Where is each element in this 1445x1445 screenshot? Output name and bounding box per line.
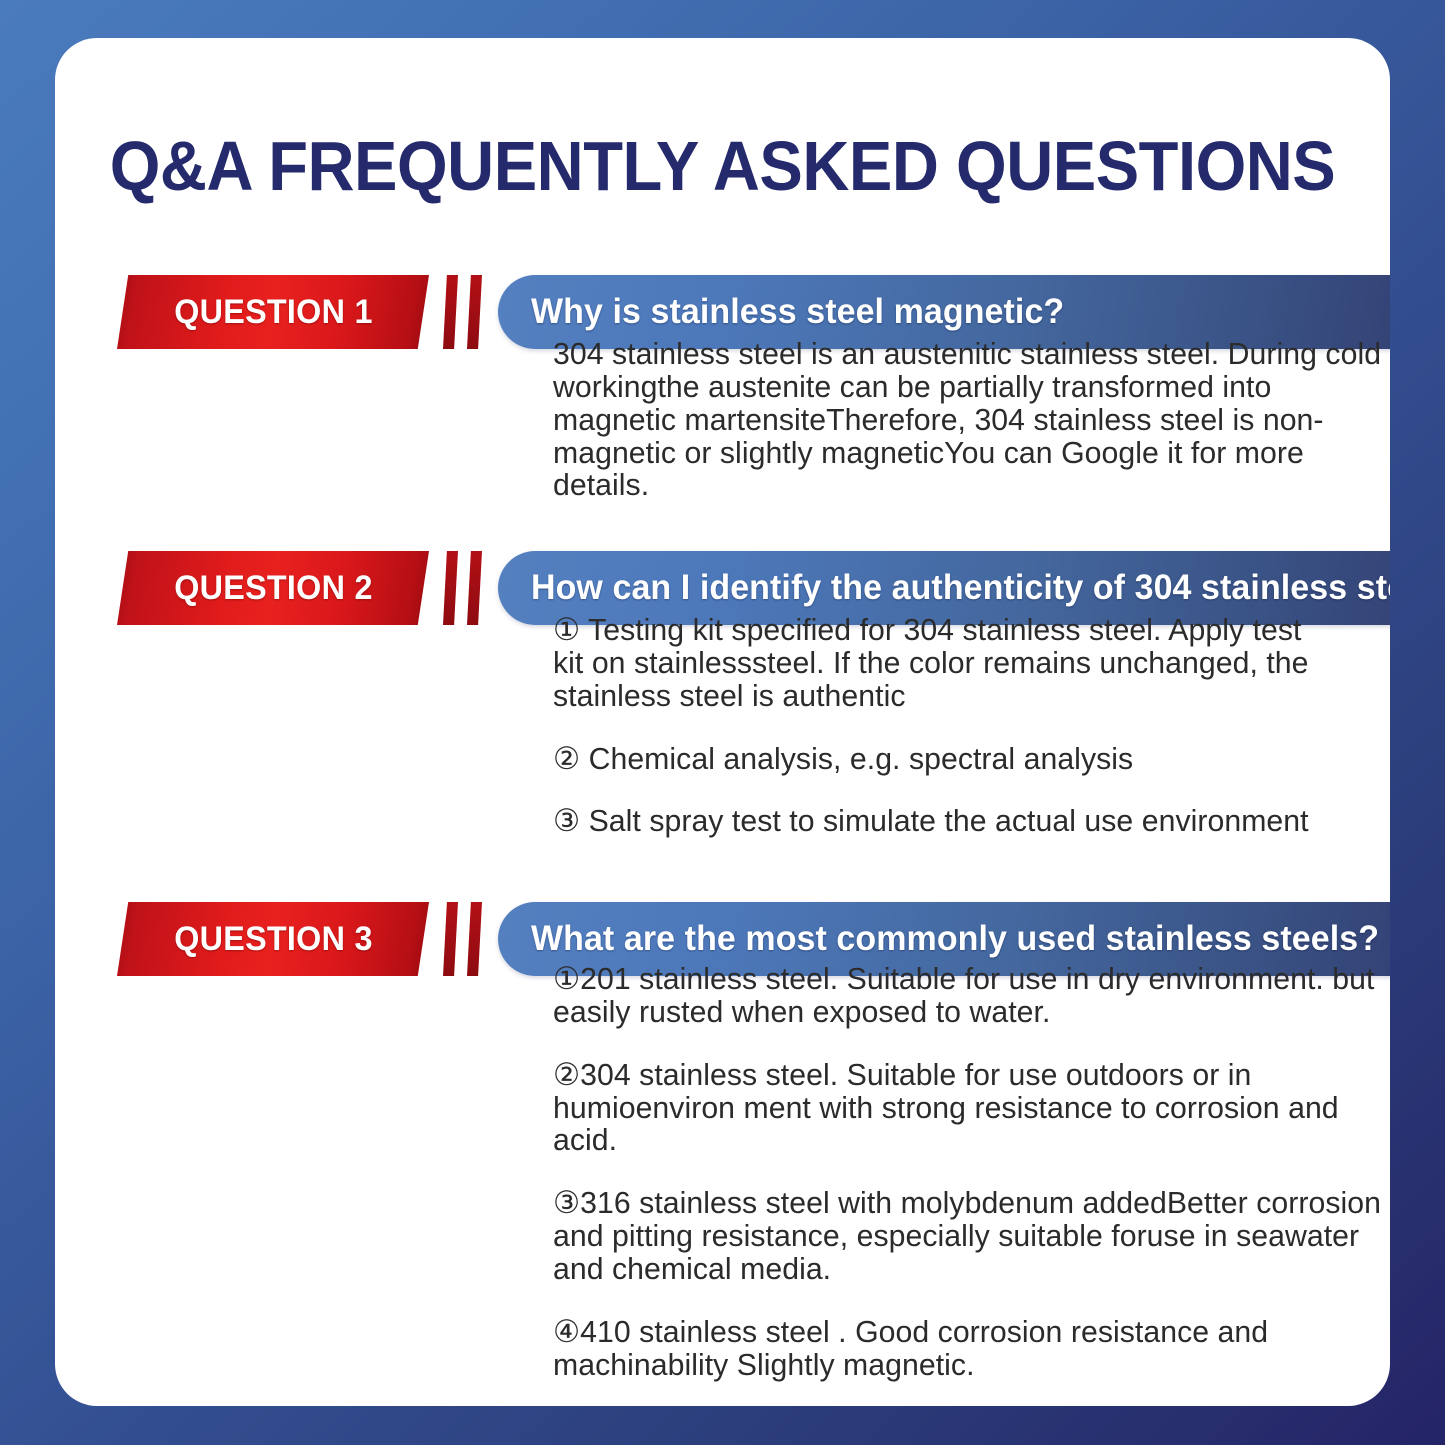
slash-decoration-1b xyxy=(467,275,482,349)
question-text-2: How can I identify the authenticity of 3… xyxy=(498,568,1390,608)
answer-block-3: ①201 stainless steel. Suitable for use i… xyxy=(553,963,1390,1382)
answer-block-1: 304 stainless steel is an austenitic sta… xyxy=(553,338,1390,502)
slash-decoration-3b xyxy=(467,902,482,976)
answer-paragraph: ②304 stainless steel. Suitable for use o… xyxy=(553,1059,1390,1158)
slash-decoration-2a xyxy=(443,551,458,625)
answer-paragraph: ④410 stainless steel . Good corrosion re… xyxy=(553,1316,1390,1382)
answer-paragraph: ①201 stainless steel. Suitable for use i… xyxy=(553,963,1390,1029)
slash-decoration-1a xyxy=(443,275,458,349)
faq-card: Q&A FREQUENTLY ASKED QUESTIONS QUESTION … xyxy=(55,38,1390,1406)
page-title: Q&A FREQUENTLY ASKED QUESTIONS xyxy=(102,126,1344,206)
question-tag-1: QUESTION 1 xyxy=(117,275,429,349)
answer-paragraph: ③316 stainless steel with molybdenum add… xyxy=(553,1187,1390,1286)
answer-paragraph: ③ Salt spray test to simulate the actual… xyxy=(553,805,1333,838)
question-tag-label-1: QUESTION 1 xyxy=(174,293,372,332)
answer-paragraph: 304 stainless steel is an austenitic sta… xyxy=(553,338,1390,502)
question-tag-3: QUESTION 3 xyxy=(117,902,429,976)
slash-decoration-2b xyxy=(467,551,482,625)
slash-decoration-3a xyxy=(443,902,458,976)
question-text-1: Why is stainless steel magnetic? xyxy=(498,292,1091,332)
answer-paragraph: ① Testing kit specified for 304 stainles… xyxy=(553,614,1333,713)
answer-block-2: ① Testing kit specified for 304 stainles… xyxy=(553,614,1333,838)
answer-paragraph: ② Chemical analysis, e.g. spectral analy… xyxy=(553,743,1333,776)
question-tag-2: QUESTION 2 xyxy=(117,551,429,625)
question-text-3: What are the most commonly used stainles… xyxy=(498,919,1390,959)
question-tag-label-2: QUESTION 2 xyxy=(174,569,372,608)
question-tag-label-3: QUESTION 3 xyxy=(174,920,372,959)
